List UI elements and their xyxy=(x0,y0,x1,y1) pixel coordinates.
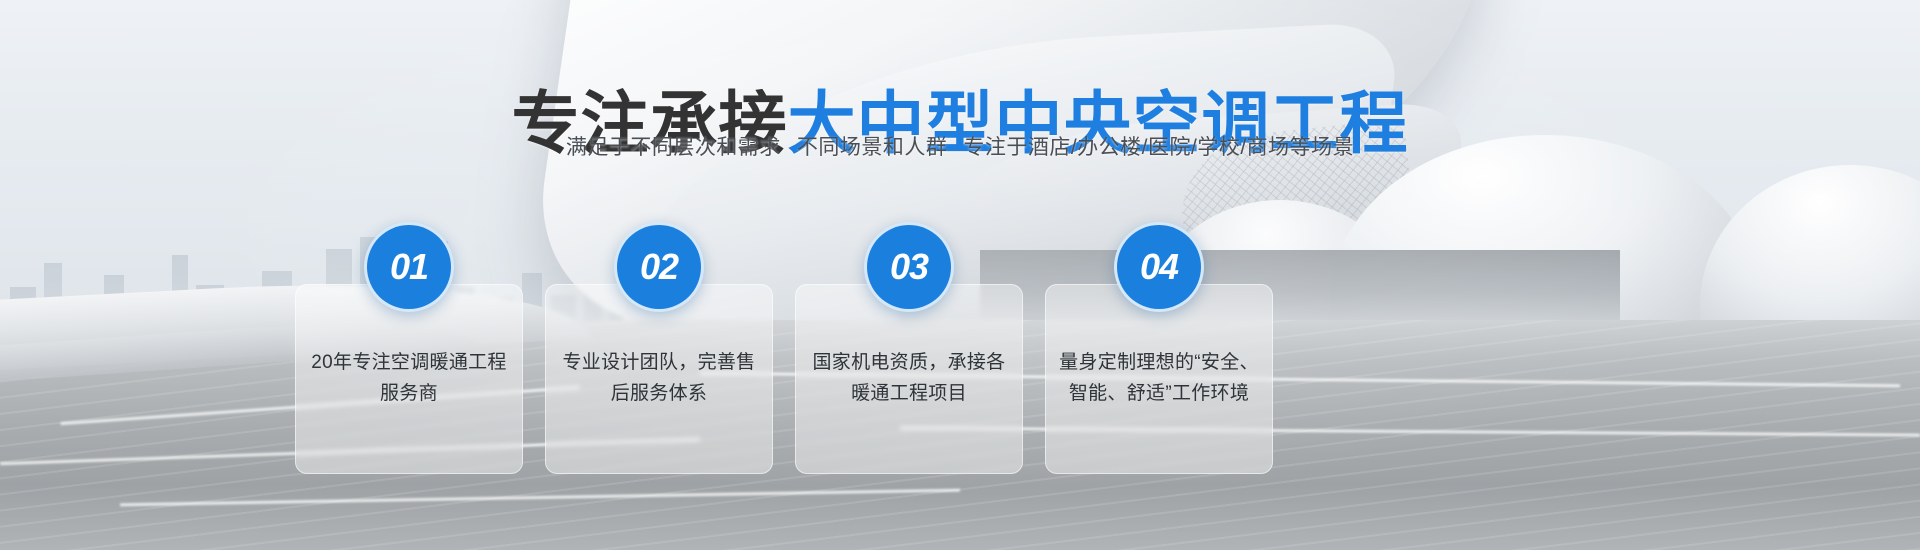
card-description: 专业设计团队，完善售后服务体系 xyxy=(559,348,759,410)
card-description: 国家机电资质，承接各暖通工程项目 xyxy=(809,348,1009,410)
card-number-label: 03 xyxy=(890,249,928,285)
card-number-badge: 02 xyxy=(614,222,704,312)
feature-card[interactable]: 04 量身定制理想的“安全、智能、舒适”工作环境 xyxy=(1045,284,1273,474)
card-number-label: 04 xyxy=(1140,249,1178,285)
card-number-badge: 03 xyxy=(864,222,954,312)
feature-card[interactable]: 01 20年专注空调暖通工程服务商 xyxy=(295,284,523,474)
feature-card[interactable]: 03 国家机电资质，承接各暖通工程项目 xyxy=(795,284,1023,474)
page-subtitle: 满足于不同层次和需求不同场景和人群专注于酒店/办公楼/医院/学校/商场等场景 xyxy=(0,131,1920,161)
card-description: 20年专注空调暖通工程服务商 xyxy=(309,348,509,410)
feature-card[interactable]: 02 专业设计团队，完善售后服务体系 xyxy=(545,284,773,474)
hero-banner: 专注承接大中型中央空调工程 满足于不同层次和需求不同场景和人群专注于酒店/办公楼… xyxy=(0,0,1920,550)
subtitle-segment-2: 不同场景和人群 xyxy=(797,136,948,159)
feature-card-list: 01 20年专注空调暖通工程服务商 02 专业设计团队，完善售后服务体系 03 … xyxy=(295,222,1295,432)
card-number-label: 01 xyxy=(390,249,428,285)
subtitle-segment-3: 专注于酒店/办公楼/医院/学校/商场等场景 xyxy=(963,136,1354,159)
card-number-label: 02 xyxy=(640,249,678,285)
subtitle-segment-1: 满足于不同层次和需求 xyxy=(566,136,781,159)
card-description: 量身定制理想的“安全、智能、舒适”工作环境 xyxy=(1059,348,1259,410)
card-number-badge: 04 xyxy=(1114,222,1204,312)
card-number-badge: 01 xyxy=(364,222,454,312)
